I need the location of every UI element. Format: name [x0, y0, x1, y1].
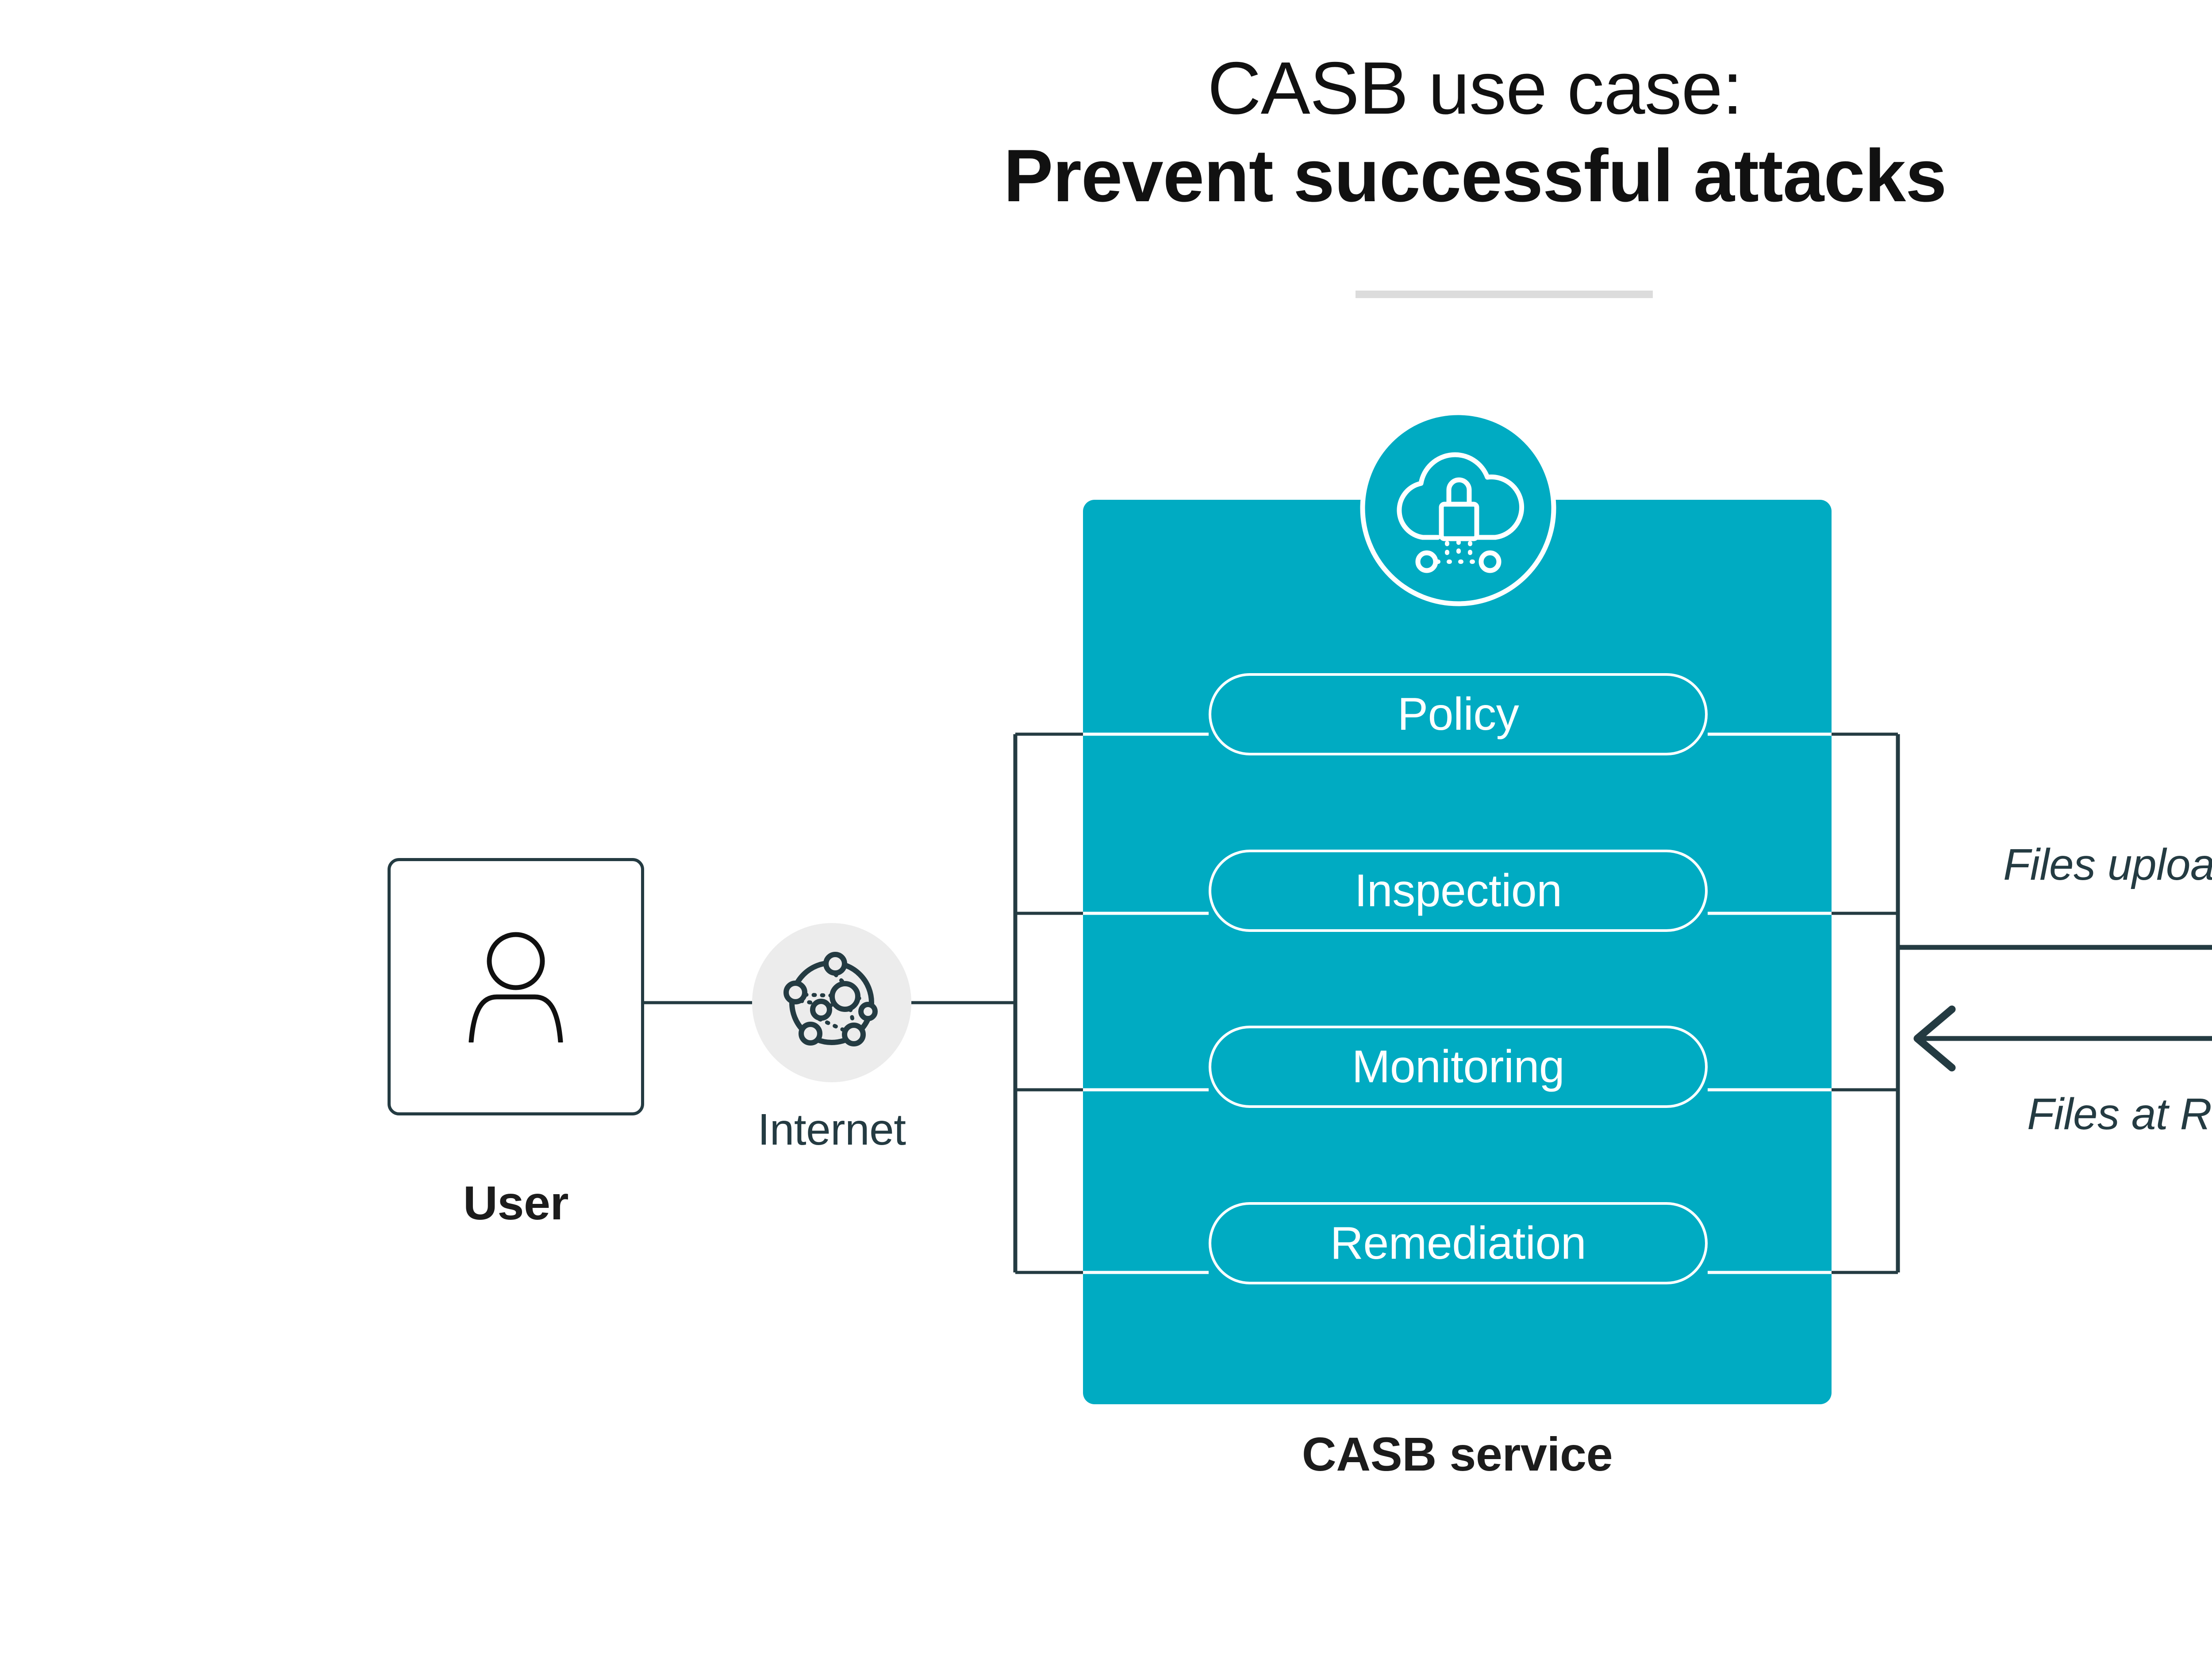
title-line-primary: CASB use case:: [0, 44, 2212, 132]
casb-stage-label: Inspection: [1354, 865, 1562, 917]
person-icon: [461, 931, 570, 1042]
diagram-canvas: CASB use case: Prevent successful attack…: [0, 0, 2212, 1659]
casb-service-label: CASB service: [1083, 1426, 1832, 1482]
user-node-label: User: [388, 1175, 644, 1230]
casb-stage-label: Policy: [1398, 688, 1519, 741]
casb-stage-monitoring[interactable]: Monitoring: [1209, 1026, 1708, 1108]
casb-stage-inspection[interactable]: Inspection: [1209, 850, 1708, 932]
internet-node-label: Internet: [699, 1104, 964, 1155]
casb-stage-label: Remediation: [1330, 1217, 1586, 1270]
flow-arrow-rest-head: [1917, 1009, 1952, 1068]
casb-stage-label: Monitoring: [1352, 1041, 1565, 1093]
title-divider: [1356, 291, 1653, 298]
casb-stage-policy[interactable]: Policy: [1209, 673, 1708, 755]
network-globe-icon: [779, 950, 885, 1056]
casb-stage-remediation[interactable]: Remediation: [1209, 1202, 1708, 1284]
flow-label-at-rest: Files at REST: [2027, 1089, 2212, 1140]
page-title: CASB use case: Prevent successful attack…: [0, 44, 2212, 219]
cloud-lock-icon: [1359, 409, 1557, 607]
flow-label-uploading: Files uploading: [2003, 839, 2212, 890]
title-line-secondary: Prevent successful attacks: [0, 132, 2212, 219]
